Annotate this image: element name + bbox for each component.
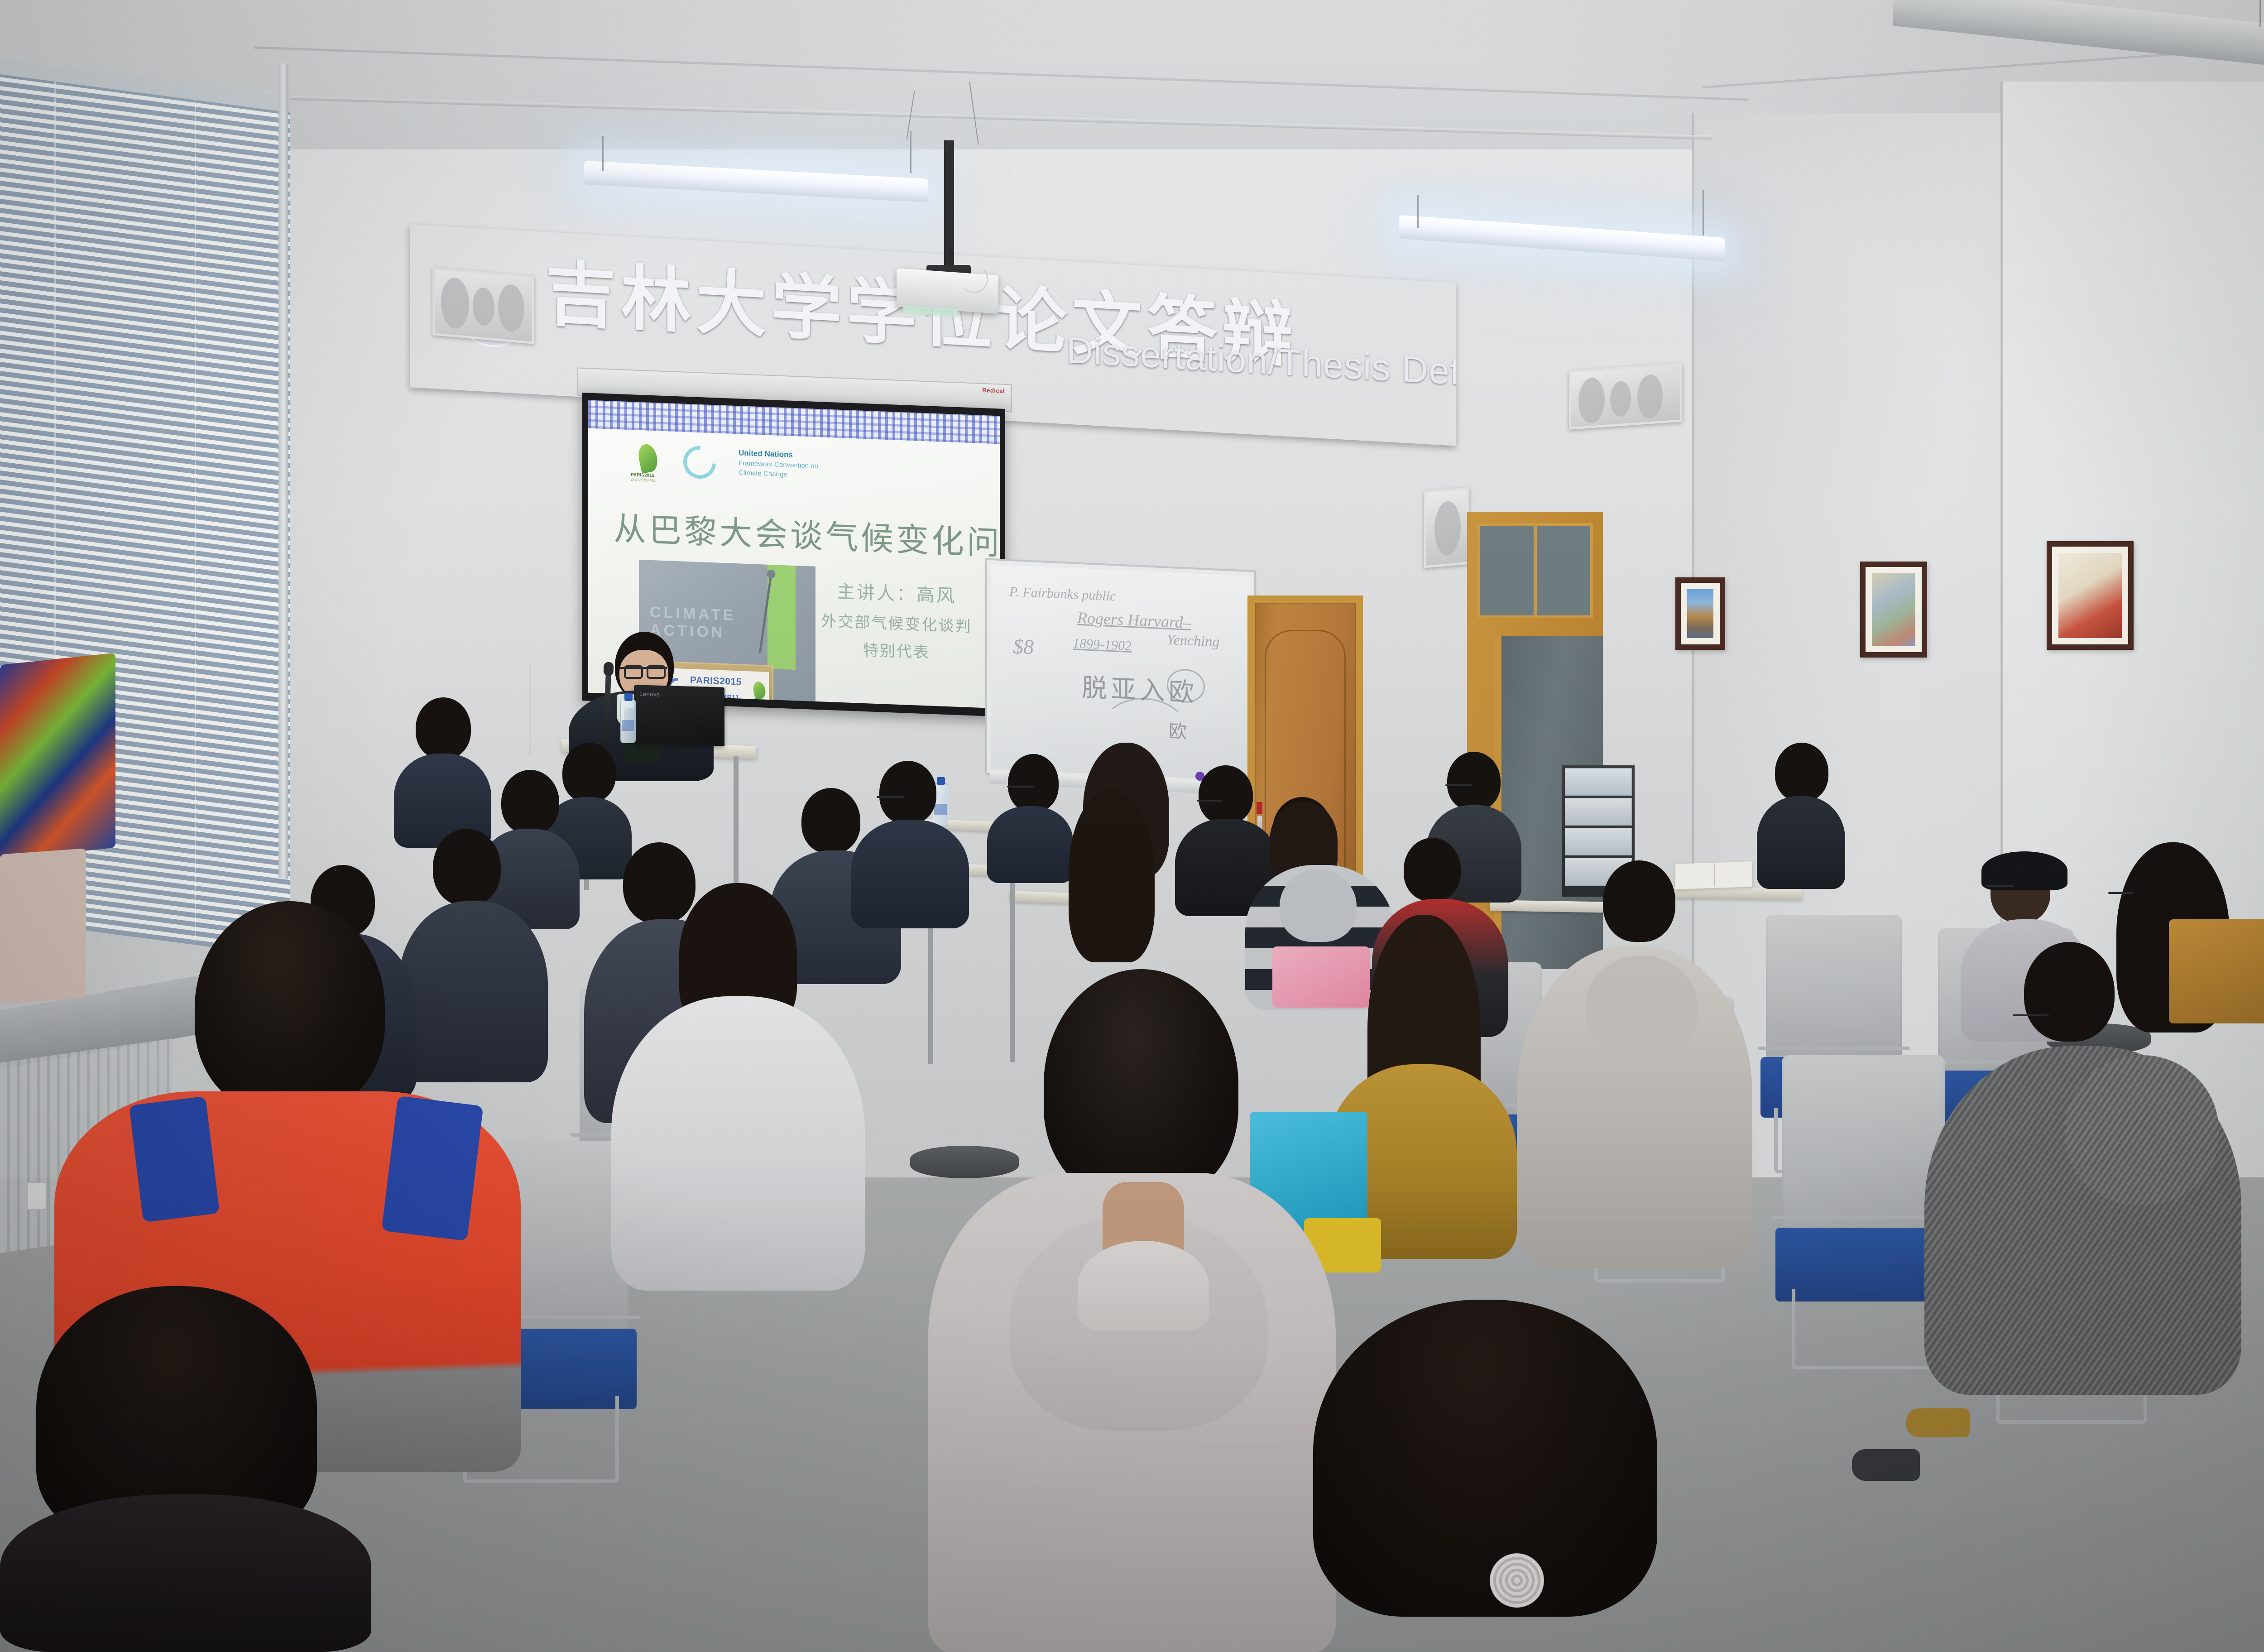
- jacket-blue-panel: [129, 1096, 220, 1223]
- person-dark-hair-bottom: [1281, 1300, 1689, 1652]
- person-gray-tweed-hoodie: [1924, 942, 2241, 1395]
- light-hanger: [1703, 190, 1704, 235]
- hood-collar: [1078, 1241, 1209, 1331]
- blind-cord[interactable]: [195, 100, 196, 942]
- eyeglasses-icon: [647, 665, 666, 679]
- framed-artwork-1: [1675, 577, 1725, 650]
- jacket-blue-panel: [381, 1096, 483, 1241]
- banner-english-text: Dissertation/Thesis Defense,Jilin Univer…: [1066, 329, 1456, 412]
- projector-mount-pole: [944, 140, 954, 276]
- eyeglasses-icon: [624, 665, 643, 679]
- screen-brand-label: Redical: [982, 387, 1005, 394]
- paris-logo-sub: COP21-CMP11: [631, 478, 656, 483]
- person-gray-hoodie-mid: [1517, 860, 1752, 1268]
- person-suit-far-center: [851, 761, 969, 928]
- classroom-chair[interactable]: [1782, 1055, 1945, 1363]
- patterned-coat-on-sill[interactable]: [0, 653, 115, 860]
- stand-rod: [529, 666, 531, 756]
- slide-decorative-border: [588, 400, 1000, 444]
- whiteboard-note-2: Rogers Harvard–: [1077, 608, 1191, 632]
- paris2015-logo-icon: PARIS2015 COP21-CMP11: [633, 443, 662, 486]
- water-bottle[interactable]: [620, 700, 636, 743]
- framed-artwork-2: [1860, 562, 1927, 658]
- door-transom-window: [1477, 523, 1593, 618]
- person-back-left-b: [394, 697, 491, 847]
- whiteboard-note-5: $8: [1013, 634, 1034, 659]
- light-hanger: [602, 136, 604, 171]
- slide-speaker-block: 主讲人：高风 外交部气候变化谈判 特别代表: [811, 574, 983, 669]
- window-frame: [278, 63, 288, 879]
- wall-speaker-right: [1569, 363, 1682, 429]
- light-hanger: [1417, 195, 1419, 228]
- paris-logo-name: PARIS2015: [631, 472, 654, 478]
- whiteboard-note-3: Yenching: [1167, 631, 1219, 650]
- wall-speaker-left: [432, 267, 534, 344]
- presenter-laptop[interactable]: Lenovo: [634, 685, 724, 746]
- person-dark-hair-bottom-left: [0, 1286, 371, 1652]
- person-gray-hoodie-center: [928, 969, 1336, 1652]
- laptop-brand-label: Lenovo: [639, 691, 660, 698]
- slide-logo-row: PARIS2015 COP21-CMP11 United Nations Fra…: [633, 443, 818, 492]
- shoe: [1906, 1408, 1970, 1437]
- light-hanger: [910, 131, 911, 173]
- person-far-right-b: [2255, 856, 2264, 1069]
- person-white-top: [611, 883, 865, 1291]
- shoe: [1852, 1449, 1920, 1481]
- whiteboard-note-1: P. Fairbanks public: [1009, 584, 1116, 605]
- whiteboard-note-4: 1899-1902: [1073, 636, 1132, 654]
- classroom-scene: 吉林大学学位论文答辩 Dissertation/Thesis Defense,J…: [0, 0, 2264, 1652]
- slide-title: 从巴黎大会谈气候变化问题: [614, 502, 984, 563]
- wall-speaker-corner: [1424, 487, 1469, 568]
- person-far-right-a: [1757, 743, 1845, 888]
- projector-cable: [960, 265, 988, 293]
- framed-artwork-3: [2047, 541, 2134, 650]
- unfccc-logo-icon: [676, 439, 723, 485]
- hair-tie-beads: [1490, 1553, 1544, 1608]
- wall-outlet[interactable]: [27, 1182, 47, 1210]
- light-hanger: [2259, 0, 2261, 27]
